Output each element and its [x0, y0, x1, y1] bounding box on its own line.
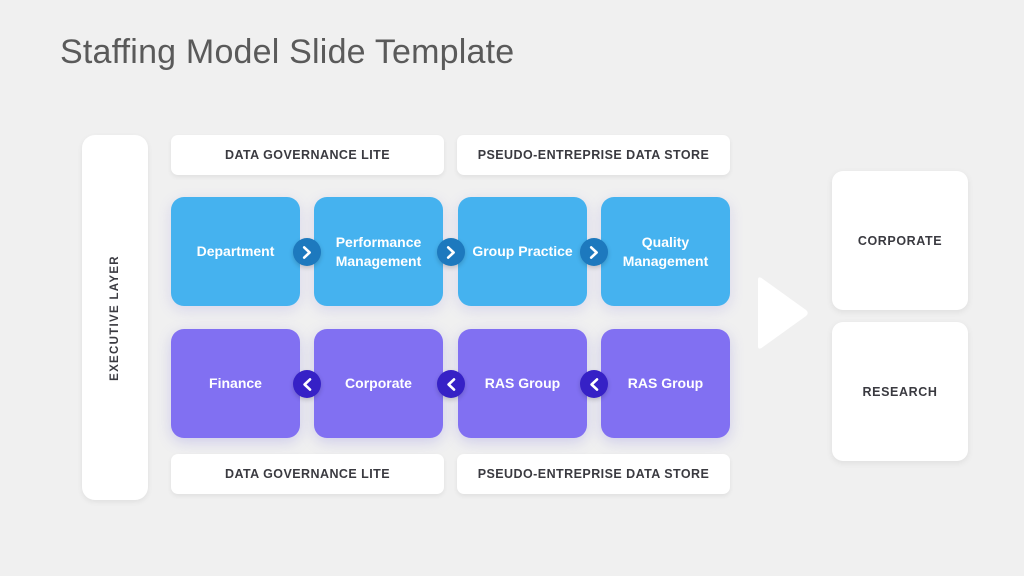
chevron-left-icon — [437, 370, 465, 398]
card-label: Corporate — [345, 374, 412, 392]
top-bar-data-governance-lite[interactable]: DATA GOVERNANCE LITE — [171, 135, 444, 175]
card-label: Group Practice — [472, 242, 572, 260]
card-group-practice[interactable]: Group Practice — [458, 197, 587, 306]
triangle-right-icon — [752, 275, 810, 351]
page-title: Staffing Model Slide Template — [60, 33, 514, 72]
executive-layer-label: EXECUTIVE LAYER — [109, 255, 121, 381]
card-corporate[interactable]: Corporate — [314, 329, 443, 438]
chevron-left-icon — [293, 370, 321, 398]
top-bar-pseudo-entreprise-data-store[interactable]: PSEUDO-ENTREPRISE DATA STORE — [457, 135, 730, 175]
card-ras-group-2[interactable]: RAS Group — [601, 329, 730, 438]
chevron-right-icon — [580, 238, 608, 266]
card-quality-management[interactable]: Quality Management — [601, 197, 730, 306]
bottom-bar-data-governance-lite[interactable]: DATA GOVERNANCE LITE — [171, 454, 444, 494]
card-label: Performance Management — [321, 233, 436, 269]
outcome-card-label: RESEARCH — [863, 385, 938, 399]
executive-layer-panel: EXECUTIVE LAYER — [82, 135, 148, 500]
card-label: RAS Group — [628, 374, 703, 392]
outcome-card-research[interactable]: RESEARCH — [832, 322, 968, 461]
card-finance[interactable]: Finance — [171, 329, 300, 438]
card-label: Department — [197, 242, 275, 260]
outcome-card-label: CORPORATE — [858, 234, 942, 248]
card-performance-management[interactable]: Performance Management — [314, 197, 443, 306]
card-label: RAS Group — [485, 374, 560, 392]
card-label: Quality Management — [608, 233, 723, 269]
chevron-right-icon — [437, 238, 465, 266]
bottom-bar-pseudo-entreprise-data-store[interactable]: PSEUDO-ENTREPRISE DATA STORE — [457, 454, 730, 494]
process-grid: Department Performance Management Group … — [171, 197, 730, 438]
card-department[interactable]: Department — [171, 197, 300, 306]
card-ras-group-1[interactable]: RAS Group — [458, 329, 587, 438]
card-label: Finance — [209, 374, 262, 392]
chevron-left-icon — [580, 370, 608, 398]
top-bar-label: PSEUDO-ENTREPRISE DATA STORE — [478, 148, 710, 162]
outcome-card-corporate[interactable]: CORPORATE — [832, 171, 968, 310]
top-bar-label: DATA GOVERNANCE LITE — [225, 148, 390, 162]
bottom-bar-label: DATA GOVERNANCE LITE — [225, 467, 390, 481]
chevron-right-icon — [293, 238, 321, 266]
bottom-bar-label: PSEUDO-ENTREPRISE DATA STORE — [478, 467, 710, 481]
